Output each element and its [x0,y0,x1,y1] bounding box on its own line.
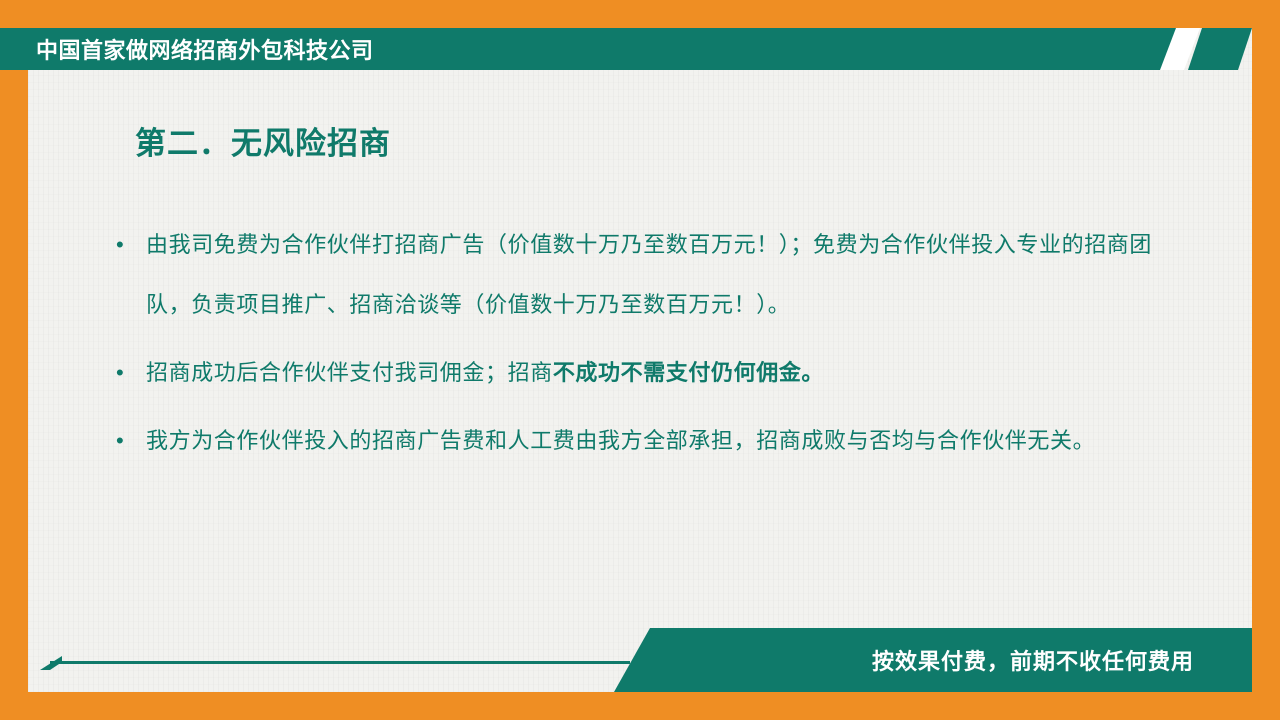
footer-banner: 按效果付费，前期不收任何费用 [614,628,1252,692]
bullet-dot-icon: • [116,411,124,471]
bullet-text: 我方为合作伙伴投入的招商广告费和人工费由我方全部承担，招商成败与否均与合作伙伴无… [146,428,1095,453]
bullet-text-emphasis: 不成功不需支付仍何佣金。 [553,360,824,385]
section-title: 第二．无风险招商 [135,118,1180,163]
list-item: • 我方为合作伙伴投入的招商广告费和人工费由我方全部承担，招商成败与否均与合作伙… [110,411,1180,471]
bullet-dot-icon: • [116,215,124,275]
bullet-dot-icon: • [116,343,124,403]
header-banner: 中国首家做网络招商外包科技公司 [0,28,1196,70]
list-item: • 由我司免费为合作伙伴打招商广告（价值数十万乃至数百万元！）；免费为合作伙伴投… [110,215,1180,335]
bullet-text: 招商成功后合作伙伴支付我司佣金；招商 [146,360,553,385]
list-item: • 招商成功后合作伙伴支付我司佣金；招商不成功不需支付仍何佣金。 [110,343,1180,403]
presentation-slide: 中国首家做网络招商外包科技公司 第二．无风险招商 • 由我司免费为合作伙伴打招商… [0,0,1280,720]
footer-divider [50,661,630,664]
slide-content: 第二．无风险招商 • 由我司免费为合作伙伴打招商广告（价值数十万乃至数百万元！）… [110,118,1180,479]
header-title: 中国首家做网络招商外包科技公司 [36,33,374,65]
footer-slogan: 按效果付费，前期不收任何费用 [872,644,1194,676]
bullet-text: 由我司免费为合作伙伴打招商广告（价值数十万乃至数百万元！）；免费为合作伙伴投入专… [146,232,1152,317]
bullet-list: • 由我司免费为合作伙伴打招商广告（价值数十万乃至数百万元！）；免费为合作伙伴投… [110,215,1180,471]
